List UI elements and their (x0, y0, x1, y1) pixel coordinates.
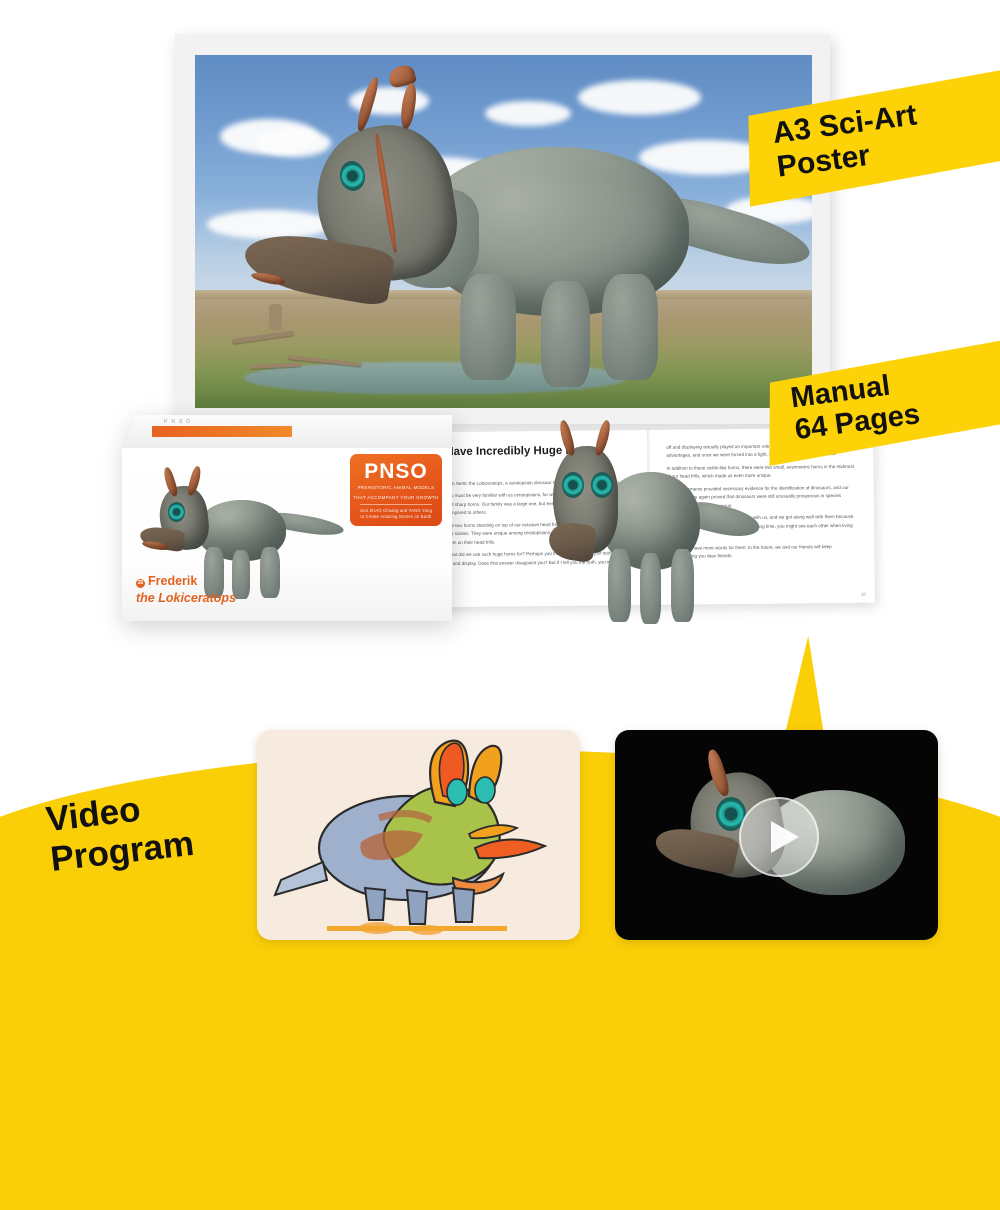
frill-horn-left (354, 76, 380, 133)
model-name-text: Frederik (148, 574, 197, 588)
box-top-face: PNSO (122, 415, 452, 450)
a3-poster (175, 34, 830, 424)
video-thumbnail-model[interactable]: Lokiceratops model video preview (615, 730, 938, 940)
pnso-tagline-4: to Create Amazing Stories on Earth (350, 514, 442, 520)
series-badge-icon: 35 (136, 579, 145, 588)
badge-video-program: Video Program (44, 784, 196, 880)
figure-leg (640, 553, 661, 624)
poster-artwork (195, 55, 812, 408)
dino-leg (460, 274, 516, 380)
pnso-divider (360, 504, 432, 505)
box-top-brandline: PNSO (164, 419, 334, 425)
manual-page-number: 18 (861, 592, 866, 597)
pnso-wordmark: PNSO (350, 461, 442, 482)
model-species-text: the Lokiceratops (136, 590, 236, 607)
cover-leg (260, 547, 280, 597)
play-icon[interactable] (739, 797, 819, 877)
figure-snout (547, 520, 598, 563)
figure-leg (671, 549, 694, 622)
dino-leg (541, 281, 590, 387)
pnso-logo: PNSO PREHISTORIC ANIMAL MODELS THAT ACCO… (350, 454, 442, 526)
pnso-tagline-1: PREHISTORIC ANIMAL MODELS (350, 485, 442, 492)
frill-horn-right (398, 83, 418, 130)
cover-horn-left (162, 467, 180, 498)
figure-eyespot-left (562, 472, 584, 498)
dino-leg (602, 274, 658, 380)
lokiceratops-sketch-icon (257, 730, 580, 940)
figure-horn-left (557, 419, 577, 456)
box-front-face: PNSO PREHISTORIC ANIMAL MODELS THAT ACCO… (122, 448, 452, 621)
figure-horn-right (593, 419, 613, 456)
callout-pointer (786, 635, 832, 734)
video-thumbnail-sketch[interactable] (257, 730, 580, 940)
lokiceratops-illustration (195, 55, 812, 408)
cover-horn-right (186, 465, 203, 496)
product-box: PNSO PNSO PREHISTORIC ANIMAL MODELS THAT… (122, 415, 452, 621)
lokiceratops-figure-on-manual (545, 420, 755, 635)
play-triangle-icon (771, 821, 799, 853)
box-model-name-line: 35Frederik (136, 573, 236, 590)
figure-eyespot-right (591, 472, 613, 498)
pnso-tagline-2: THAT ACCOMPANY YOUR GROWTH (350, 495, 442, 502)
product-showcase: Have Incredibly Huge Horns I am Sertic t… (0, 0, 1000, 1000)
box-top-orange-strip (152, 426, 292, 437)
box-model-name: 35Frederik the Lokiceratops (136, 573, 236, 607)
figure-leg (608, 549, 631, 622)
